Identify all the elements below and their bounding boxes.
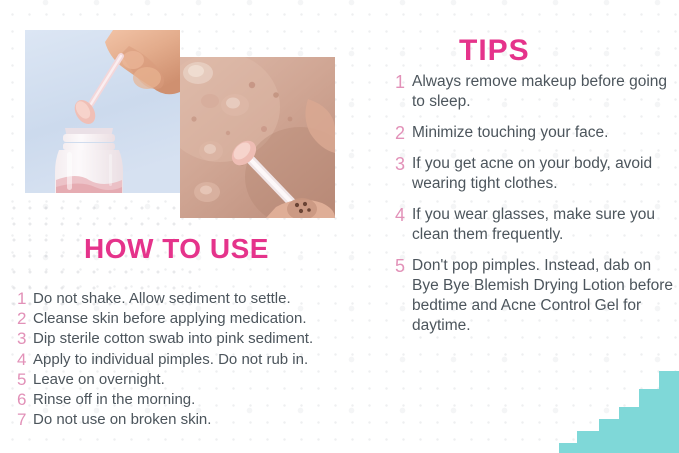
tip-text: Don't pop pimples. Instead, dab on Bye B… (412, 256, 679, 336)
tip-number: 2 (395, 123, 412, 143)
list-item: 3 If you get acne on your body, avoid we… (395, 154, 679, 194)
step-number: 2 (17, 309, 33, 328)
tip-text: If you get acne on your body, avoid wear… (412, 154, 679, 194)
list-item: 7 Do not use on broken skin. (17, 410, 387, 429)
step-text: Dip sterile cotton swab into pink sedime… (33, 329, 387, 348)
photo-cotton-swab-applying-lotion-to-acne-skin (180, 57, 335, 218)
list-item: 2 Minimize touching your face. (395, 123, 679, 143)
step-text: Cleanse skin before applying medication. (33, 309, 387, 328)
swab-bottle-illustration (25, 30, 180, 193)
step-text: Apply to individual pimples. Do not rub … (33, 350, 387, 369)
list-item: 6 Rinse off in the morning. (17, 390, 387, 409)
step-text: Do not shake. Allow sediment to settle. (33, 289, 387, 308)
step-number: 5 (17, 370, 33, 389)
tip-text: Minimize touching your face. (412, 123, 679, 143)
tip-number: 1 (395, 72, 412, 92)
tip-number: 4 (395, 205, 412, 225)
list-item: 1 Do not shake. Allow sediment to settle… (17, 289, 387, 308)
product-instructions-infographic: TIPS 1 Always remove makeup before going… (0, 0, 679, 453)
list-item: 4 Apply to individual pimples. Do not ru… (17, 350, 387, 369)
photo-hand-holding-cotton-swab-over-bottle (25, 30, 180, 193)
step-number: 7 (17, 410, 33, 429)
how-to-use-heading: HOW TO USE (84, 233, 269, 265)
list-item: 5 Leave on overnight. (17, 370, 387, 389)
step-text: Do not use on broken skin. (33, 410, 387, 429)
step-number: 1 (17, 289, 33, 308)
list-item: 4 If you wear glasses, make sure you cle… (395, 205, 679, 245)
step-number: 3 (17, 329, 33, 348)
step-text: Leave on overnight. (33, 370, 387, 389)
how-to-use-list: 1 Do not shake. Allow sediment to settle… (17, 289, 387, 430)
list-item: 2 Cleanse skin before applying medicatio… (17, 309, 387, 328)
tip-number: 3 (395, 154, 412, 174)
tip-text: If you wear glasses, make sure you clean… (412, 205, 679, 245)
list-item: 1 Always remove makeup before going to s… (395, 72, 679, 112)
tip-text: Always remove makeup before going to sle… (412, 72, 679, 112)
skin-application-illustration (180, 57, 335, 218)
list-item: 5 Don't pop pimples. Instead, dab on Bye… (395, 256, 679, 336)
tips-list: 1 Always remove makeup before going to s… (395, 72, 679, 347)
step-number: 6 (17, 390, 33, 409)
list-item: 3 Dip sterile cotton swab into pink sedi… (17, 329, 387, 348)
tip-number: 5 (395, 256, 412, 276)
step-number: 4 (17, 350, 33, 369)
tips-heading: TIPS (459, 34, 530, 68)
step-text: Rinse off in the morning. (33, 390, 387, 409)
teal-stepped-corner-decoration (547, 357, 679, 453)
